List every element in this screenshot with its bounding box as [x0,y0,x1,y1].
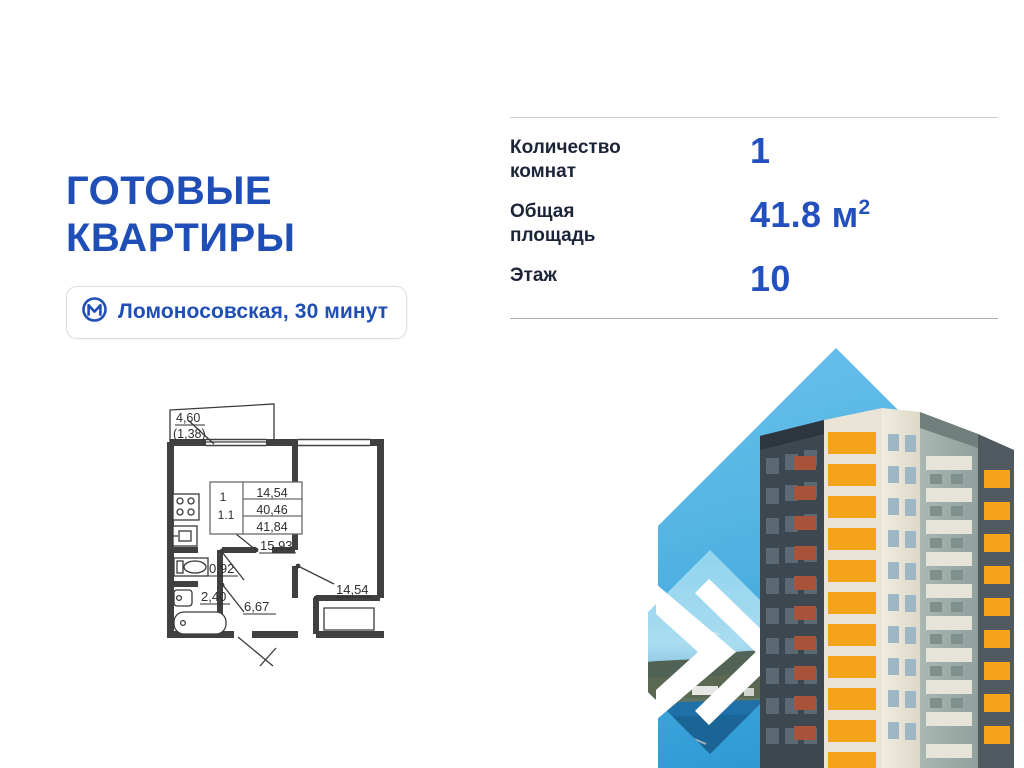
floorplan-svg: 4,60 (1,38) 1 1.1 14,54 40,46 41,84 15,9… [148,398,410,670]
apartment-building-photo [760,408,1014,768]
spec-value-total-area-unit: 2 [859,196,871,219]
apartment-specs-panel: Количество комнат 1 Общая площадь 41.8 м… [510,117,998,319]
washbasin-icon [174,590,192,606]
total-area-label: 41,84 [256,520,287,534]
spec-value-total-area-text: 41.8 м [750,194,859,235]
living-area-label: 14,54 [256,486,287,500]
living-room-area-label: 15,93 [260,538,293,553]
spec-label-floor: Этаж [510,260,750,288]
spec-value-rooms: 1 [750,132,770,170]
spec-divider-bottom [510,318,998,319]
facade-balconies-far-right [984,470,1010,744]
building-photo-composition [648,338,1024,768]
balcony-length-label: 4,60 [176,411,200,425]
balcony-area-label: (1,38) [173,427,206,441]
page-title: ГОТОВЫЕ КВАРТИРЫ [66,168,486,262]
spec-label-total-area: Общая площадь [510,196,750,248]
niche-outline [324,608,374,630]
bathtub-icon [174,612,226,634]
area-without-balcony-label: 40,46 [256,503,287,517]
spec-row-floor: Этаж 10 [510,252,998,314]
stove-icon [173,494,199,520]
spec-value-total-area: 41.8 м2 [750,196,870,234]
spec-value-floor-text: 10 [750,258,791,299]
apartment-number-label: 1 [220,490,227,504]
spec-row-rooms: Количество комнат 1 [510,124,998,188]
metro-m-logo-icon [82,297,107,327]
metro-station-badge[interactable]: Ломоносовская, 30 минут [66,286,407,339]
toilet-icon [174,558,208,576]
promo-heading-block: ГОТОВЫЕ КВАРТИРЫ Ломоносовская, 30 минут [66,168,486,339]
wc-area-label: 0,92 [209,561,234,576]
floorplan-drawing: 4,60 (1,38) 1 1.1 14,54 40,46 41,84 15,9… [148,398,410,670]
spec-row-total-area: Общая площадь 41.8 м2 [510,188,998,252]
sink-icon [173,526,197,546]
bedroom-area-label: 14,54 [336,582,369,597]
photo-svg [648,338,1024,768]
spec-value-rooms-text: 1 [750,130,770,171]
spec-rows: Количество комнат 1 Общая площадь 41.8 м… [510,118,998,318]
metro-station-label: Ломоносовская, 30 минут [118,300,388,324]
spec-label-rooms: Количество комнат [510,132,750,184]
apartment-index-label: 1.1 [218,508,235,522]
hall-area-label: 6,67 [244,599,269,614]
spec-value-floor: 10 [750,260,791,298]
bathroom-area-label: 2,40 [201,589,226,604]
door-hinges [220,548,319,601]
